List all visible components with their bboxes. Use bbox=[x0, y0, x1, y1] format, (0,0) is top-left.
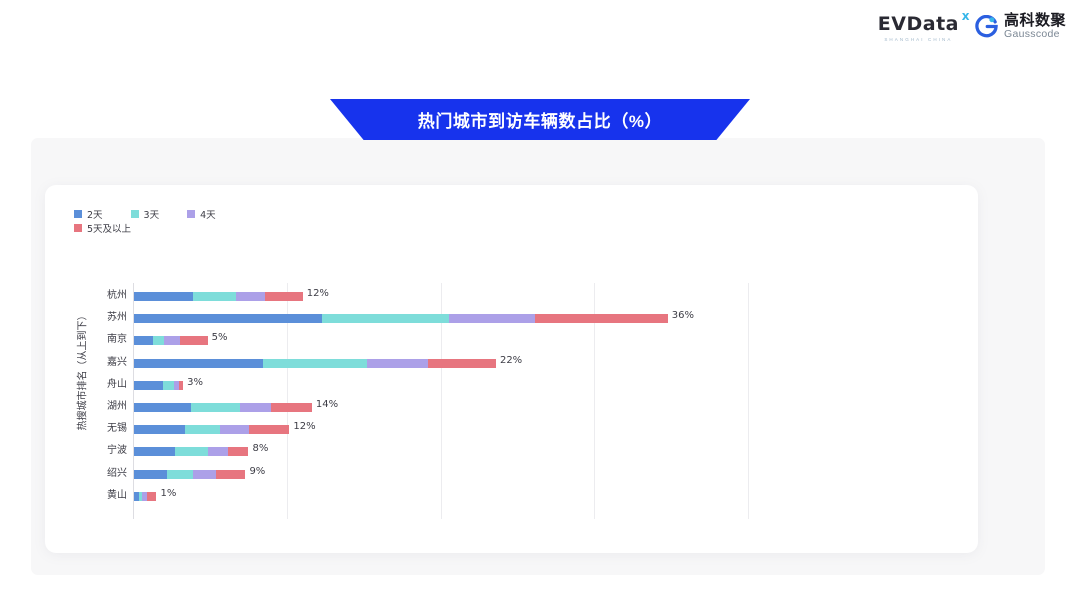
y-axis-tick-label: 嘉兴 bbox=[45, 352, 127, 374]
bar-segment-2天[interactable] bbox=[134, 314, 322, 323]
bar-segment-5天及以上[interactable] bbox=[216, 470, 246, 479]
stacked-bar[interactable] bbox=[134, 403, 312, 412]
chart-row[interactable]: 黄山1% bbox=[45, 485, 978, 507]
page-title: 热门城市到访车辆数占比（%） bbox=[418, 107, 663, 132]
bar-segment-4天[interactable] bbox=[193, 470, 215, 479]
bar-segment-3天[interactable] bbox=[193, 292, 236, 301]
bar-value-label: 5% bbox=[212, 332, 228, 343]
gausscode-text: 高科数聚 Gausscode bbox=[1004, 13, 1066, 40]
stacked-bar[interactable] bbox=[134, 314, 668, 323]
chart-row[interactable]: 宁波8% bbox=[45, 440, 978, 462]
chart-row[interactable]: 湖州14% bbox=[45, 396, 978, 418]
stacked-bar[interactable] bbox=[134, 292, 303, 301]
bar-value-label: 14% bbox=[316, 399, 338, 410]
bar-value-label: 12% bbox=[307, 288, 329, 299]
bar-segment-5天及以上[interactable] bbox=[535, 314, 668, 323]
stacked-bar[interactable] bbox=[134, 470, 245, 479]
y-axis-tick-label: 黄山 bbox=[45, 485, 127, 507]
bar-segment-5天及以上[interactable] bbox=[428, 359, 495, 368]
bar-segment-5天及以上[interactable] bbox=[271, 403, 312, 412]
bar-segment-4天[interactable] bbox=[208, 447, 228, 456]
stacked-bar[interactable] bbox=[134, 425, 289, 434]
chart-row[interactable]: 绍兴9% bbox=[45, 463, 978, 485]
bar-segment-4天[interactable] bbox=[449, 314, 535, 323]
bar-segment-2天[interactable] bbox=[134, 292, 193, 301]
chart-title-banner: 热门城市到访车辆数占比（%） bbox=[330, 99, 750, 140]
stacked-bar[interactable] bbox=[134, 381, 183, 390]
chart-card: 2天3天4天 5天及以上 热搜城市排名（从上到下） 杭州12%苏州36%南京5%… bbox=[45, 185, 978, 553]
bar-segment-3天[interactable] bbox=[175, 447, 208, 456]
bar-segment-5天及以上[interactable] bbox=[249, 425, 290, 434]
y-axis-tick-label: 苏州 bbox=[45, 307, 127, 329]
y-axis-tick-label: 杭州 bbox=[45, 285, 127, 307]
bar-value-label: 3% bbox=[187, 377, 203, 388]
gausscode-name-cn: 高科数聚 bbox=[1004, 13, 1066, 29]
bar-value-label: 9% bbox=[249, 466, 265, 477]
bar-value-label: 22% bbox=[500, 355, 522, 366]
bar-segment-4天[interactable] bbox=[220, 425, 249, 434]
plot-area: 热搜城市排名（从上到下） 杭州12%苏州36%南京5%嘉兴22%舟山3%湖州14… bbox=[45, 185, 978, 553]
bar-segment-5天及以上[interactable] bbox=[180, 336, 208, 345]
y-axis-tick-label: 宁波 bbox=[45, 440, 127, 462]
bar-segment-2天[interactable] bbox=[134, 447, 175, 456]
bar-segment-3天[interactable] bbox=[167, 470, 194, 479]
y-axis-tick-label: 舟山 bbox=[45, 374, 127, 396]
bar-segment-5天及以上[interactable] bbox=[228, 447, 248, 456]
bar-segment-3天[interactable] bbox=[191, 403, 240, 412]
bar-segment-3天[interactable] bbox=[263, 359, 367, 368]
bar-segment-3天[interactable] bbox=[163, 381, 174, 390]
gausscode-mark-icon bbox=[975, 15, 998, 38]
bar-segment-3天[interactable] bbox=[322, 314, 449, 323]
bar-value-label: 12% bbox=[293, 421, 315, 432]
gausscode-logo: 高科数聚 Gausscode bbox=[975, 13, 1066, 40]
bar-value-label: 1% bbox=[160, 488, 176, 499]
bar-segment-2天[interactable] bbox=[134, 381, 163, 390]
bar-value-label: 36% bbox=[672, 310, 694, 321]
y-axis-tick-label: 绍兴 bbox=[45, 463, 127, 485]
bar-segment-5天及以上[interactable] bbox=[265, 292, 303, 301]
bar-segment-3天[interactable] bbox=[185, 425, 220, 434]
bar-segment-2天[interactable] bbox=[134, 403, 191, 412]
bar-value-label: 8% bbox=[253, 443, 269, 454]
stacked-bar[interactable] bbox=[134, 359, 496, 368]
chart-row[interactable]: 苏州36% bbox=[45, 307, 978, 329]
chart-row[interactable]: 嘉兴22% bbox=[45, 352, 978, 374]
chart-row[interactable]: 南京5% bbox=[45, 329, 978, 351]
stacked-bar[interactable] bbox=[134, 492, 156, 501]
brand-logos: EVDatax shanghai china 高科数聚 Gausscode bbox=[878, 13, 1066, 42]
bar-segment-4天[interactable] bbox=[240, 403, 271, 412]
y-axis-tick-label: 南京 bbox=[45, 329, 127, 351]
y-axis-tick-label: 无锡 bbox=[45, 418, 127, 440]
bar-segment-4天[interactable] bbox=[367, 359, 428, 368]
bar-segment-5天及以上[interactable] bbox=[147, 492, 156, 501]
bar-segment-2天[interactable] bbox=[134, 336, 153, 345]
bar-segment-2天[interactable] bbox=[134, 425, 185, 434]
bar-segment-2天[interactable] bbox=[134, 470, 167, 479]
stacked-bar[interactable] bbox=[134, 447, 248, 456]
gausscode-name-en: Gausscode bbox=[1004, 29, 1066, 40]
evdata-wordmark: EVDatax bbox=[878, 15, 959, 34]
evdata-tagline: shanghai china bbox=[884, 37, 952, 42]
chart-row[interactable]: 无锡12% bbox=[45, 418, 978, 440]
evdata-superscript-x: x bbox=[962, 10, 970, 22]
header-brand-bar: EVDatax shanghai china 高科数聚 Gausscode bbox=[0, 0, 1080, 58]
bar-segment-3天[interactable] bbox=[153, 336, 163, 345]
bar-segment-4天[interactable] bbox=[236, 292, 265, 301]
bar-segment-2天[interactable] bbox=[134, 359, 263, 368]
evdata-name: EVData bbox=[878, 13, 959, 35]
evdata-logo: EVDatax shanghai china bbox=[878, 13, 959, 42]
bar-segment-5天及以上[interactable] bbox=[179, 381, 183, 390]
chart-row[interactable]: 舟山3% bbox=[45, 374, 978, 396]
bar-segment-4天[interactable] bbox=[164, 336, 180, 345]
y-axis-tick-label: 湖州 bbox=[45, 396, 127, 418]
chart-row[interactable]: 杭州12% bbox=[45, 285, 978, 307]
stacked-bar[interactable] bbox=[134, 336, 208, 345]
